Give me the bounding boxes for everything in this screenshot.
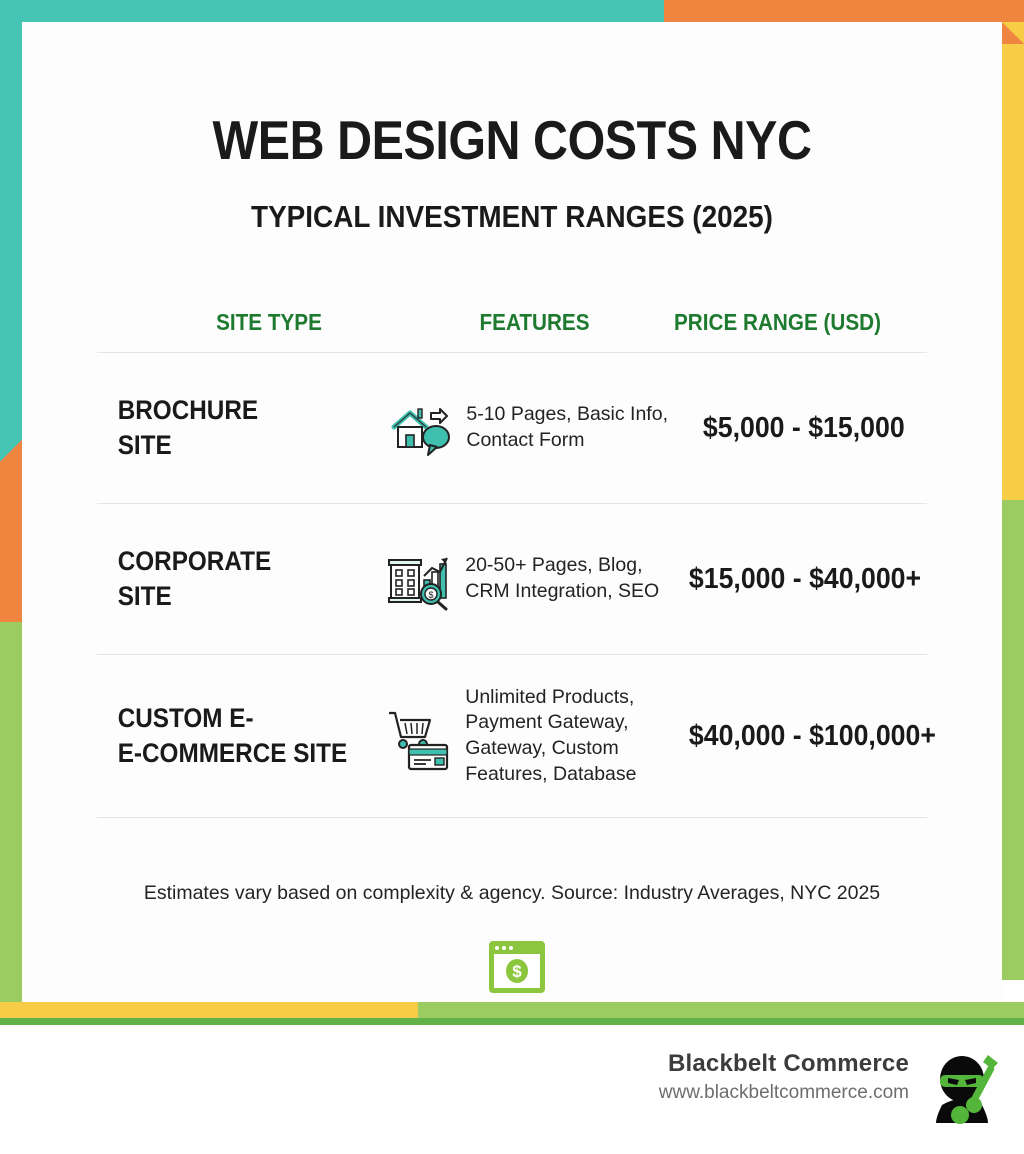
disclaimer-note: Estimates vary based on complexity & age… xyxy=(22,882,1002,905)
row-price: $40,000 - $100,000+ xyxy=(689,720,917,753)
page-title: WEB DESIGN COSTS NYC xyxy=(81,108,943,172)
row-features-text: Unlimited Products, Payment Gateway, Gat… xyxy=(465,685,679,788)
svg-text:$: $ xyxy=(512,962,522,981)
table-row: CORPORATESITE xyxy=(97,504,927,654)
row-features-cell: Unlimited Products, Payment Gateway, Gat… xyxy=(383,685,679,788)
border-band-top-teal xyxy=(0,0,664,22)
brand-url[interactable]: www.blackbeltcommerce.com xyxy=(659,1082,909,1104)
brand-name: Blackbelt Commerce xyxy=(659,1050,909,1078)
infographic-poster: WEB DESIGN COSTS NYC TYPICAL INVESTMENT … xyxy=(0,0,1024,1025)
border-band-left-green xyxy=(0,622,22,1002)
border-band-left-teal xyxy=(0,0,22,440)
row-site-type: BROCHURESITE xyxy=(97,393,356,462)
table-header-row: SITE TYPE FEATURES PRICE RANGE (USD) xyxy=(139,292,886,352)
border-band-top-orange xyxy=(664,0,1024,22)
browser-dollar-icon: $ xyxy=(488,940,546,994)
row-features-cell: $ 20-50+ Pages, Blog, CRM Integration, S… xyxy=(383,546,679,612)
row-site-type: CORPORATESITE xyxy=(97,544,355,613)
border-band-bottom-rule xyxy=(0,1018,1024,1025)
border-band-left-orange xyxy=(0,440,22,622)
border-band-right-yellow xyxy=(1002,30,1024,500)
building-chart-search-icon: $ xyxy=(383,546,455,612)
row-features-text: 20-50+ Pages, Blog, CRM Integration, SEO xyxy=(465,553,679,604)
row-price: $5,000 - $15,000 xyxy=(691,412,917,445)
table-row: BROCHURESITE xyxy=(97,353,927,503)
border-wedge-right xyxy=(1002,22,1024,44)
column-header-price-range: PRICE RANGE (USD) xyxy=(670,309,886,336)
brand-footer: Blackbelt Commerce www.blackbeltcommerce… xyxy=(0,1025,1024,1154)
house-arrow-chat-icon xyxy=(384,395,456,461)
border-band-right-green xyxy=(1002,500,1024,980)
row-site-type: CUSTOM E-E-COMMERCE SITE xyxy=(97,701,355,770)
ninja-logo xyxy=(922,1047,1006,1131)
row-features-cell: 5-10 Pages, Basic Info, Contact Form xyxy=(384,395,681,461)
content-card: WEB DESIGN COSTS NYC TYPICAL INVESTMENT … xyxy=(22,22,1002,1002)
page-subtitle: TYPICAL INVESTMENT RANGES (2025) xyxy=(71,199,953,235)
cart-credit-card-icon xyxy=(383,703,455,769)
column-header-features: FEATURES xyxy=(400,309,670,336)
row-price: $15,000 - $40,000+ xyxy=(689,563,917,596)
column-header-site-type: SITE TYPE xyxy=(139,309,400,336)
table-row: CUSTOM E-E-COMMERCE SITE xyxy=(97,655,927,817)
brand-text-block: Blackbelt Commerce www.blackbeltcommerce… xyxy=(659,1050,909,1104)
pricing-table: SITE TYPE FEATURES PRICE RANGE (USD) BRO… xyxy=(97,292,927,818)
row-features-text: 5-10 Pages, Basic Info, Contact Form xyxy=(466,402,681,453)
border-wedge-left xyxy=(0,440,22,462)
row-divider xyxy=(97,817,927,818)
svg-text:$: $ xyxy=(429,590,434,600)
